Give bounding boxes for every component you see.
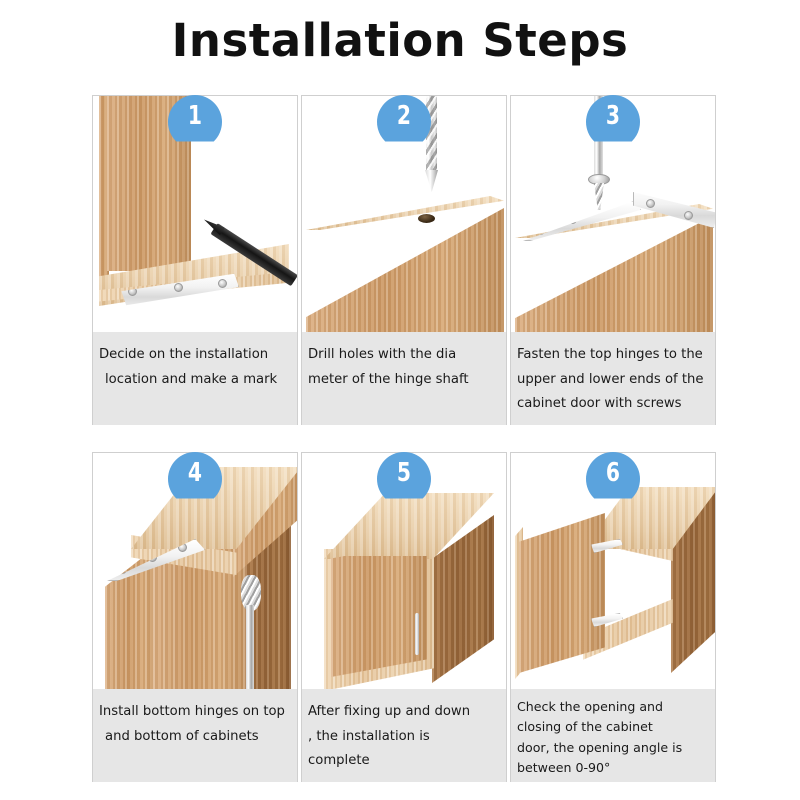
caption-line: complete (308, 749, 504, 774)
step-caption-1: Decide on the installation location and … (93, 332, 297, 425)
caption-line: Drill holes with the dia (308, 343, 504, 368)
marker-pen-body (210, 223, 297, 286)
step-badge-4: 4 (168, 452, 222, 506)
step-caption-6: Check the opening and closing of the cab… (511, 689, 715, 782)
step-number-6: 6 (606, 460, 619, 486)
screw-hole (684, 211, 693, 220)
caption-line: closing of the cabinet (517, 717, 713, 737)
screw-thread (594, 183, 604, 210)
marker-pen (198, 216, 297, 294)
drilled-hole (418, 214, 435, 223)
caption-line: door, the opening angle is (517, 738, 713, 758)
step-badge-2: 2 (377, 95, 431, 149)
step-card-6[interactable]: 6 Check the opening and closing of the c… (510, 452, 716, 782)
step-badge-5: 5 (377, 452, 431, 506)
screwdriver (239, 571, 263, 689)
page-title: Installation Steps (0, 14, 800, 67)
step-number-1: 1 (188, 103, 201, 129)
caption-line: Check the opening and (517, 697, 713, 717)
step-badge-6: 6 (586, 452, 640, 506)
cabinet-door-open (519, 513, 605, 673)
step-card-1[interactable]: 1 Decide on the installation location an… (92, 95, 298, 425)
step-number-2: 2 (397, 103, 410, 129)
step-card-2[interactable]: 2 Drill holes with the dia meter of the … (301, 95, 507, 425)
door-handle (415, 613, 419, 655)
caption-line: location and make a mark (99, 368, 295, 393)
caption-line: Install bottom hinges on top (99, 700, 295, 725)
screw (588, 174, 610, 210)
screw-hole (646, 199, 655, 208)
caption-line: upper and lower ends of the (517, 368, 713, 393)
caption-line: between 0-90° (517, 758, 713, 778)
step-card-5[interactable]: 5 After fixing up and down , the install… (301, 452, 507, 782)
step-number-4: 4 (188, 460, 201, 486)
step-badge-1: 1 (168, 95, 222, 149)
caption-line: , the installation is (308, 725, 504, 750)
step-badge-3: 3 (586, 95, 640, 149)
caption-line: Fasten the top hinges to the (517, 343, 713, 368)
screw-hole (174, 283, 183, 292)
step-caption-4: Install bottom hinges on top and bottom … (93, 689, 297, 782)
caption-line: meter of the hinge shaft (308, 368, 504, 393)
caption-line: After fixing up and down (308, 700, 504, 725)
steps-grid: 1 Decide on the installation location an… (92, 95, 716, 782)
step-caption-5: After fixing up and down , the installat… (302, 689, 506, 782)
step-number-5: 5 (397, 460, 410, 486)
installation-steps-page: Installation Steps 1 (0, 0, 800, 800)
step-card-4[interactable]: 4 Install bottom hinges on top and botto… (92, 452, 298, 782)
screw-hole (568, 215, 577, 224)
step-caption-3: Fasten the top hinges to the upper and l… (511, 332, 715, 425)
caption-line: and bottom of cabinets (99, 725, 295, 750)
caption-line: cabinet door with screws (517, 392, 713, 417)
screw-hole (118, 565, 127, 574)
step-card-3[interactable]: 3 Fasten the top hinges to the upper and… (510, 95, 716, 425)
screwdriver-shaft (246, 605, 254, 689)
drill-bit-tip (425, 170, 438, 192)
step-number-3: 3 (606, 103, 619, 129)
step-caption-2: Drill holes with the dia meter of the hi… (302, 332, 506, 425)
caption-line: Decide on the installation (99, 343, 295, 368)
